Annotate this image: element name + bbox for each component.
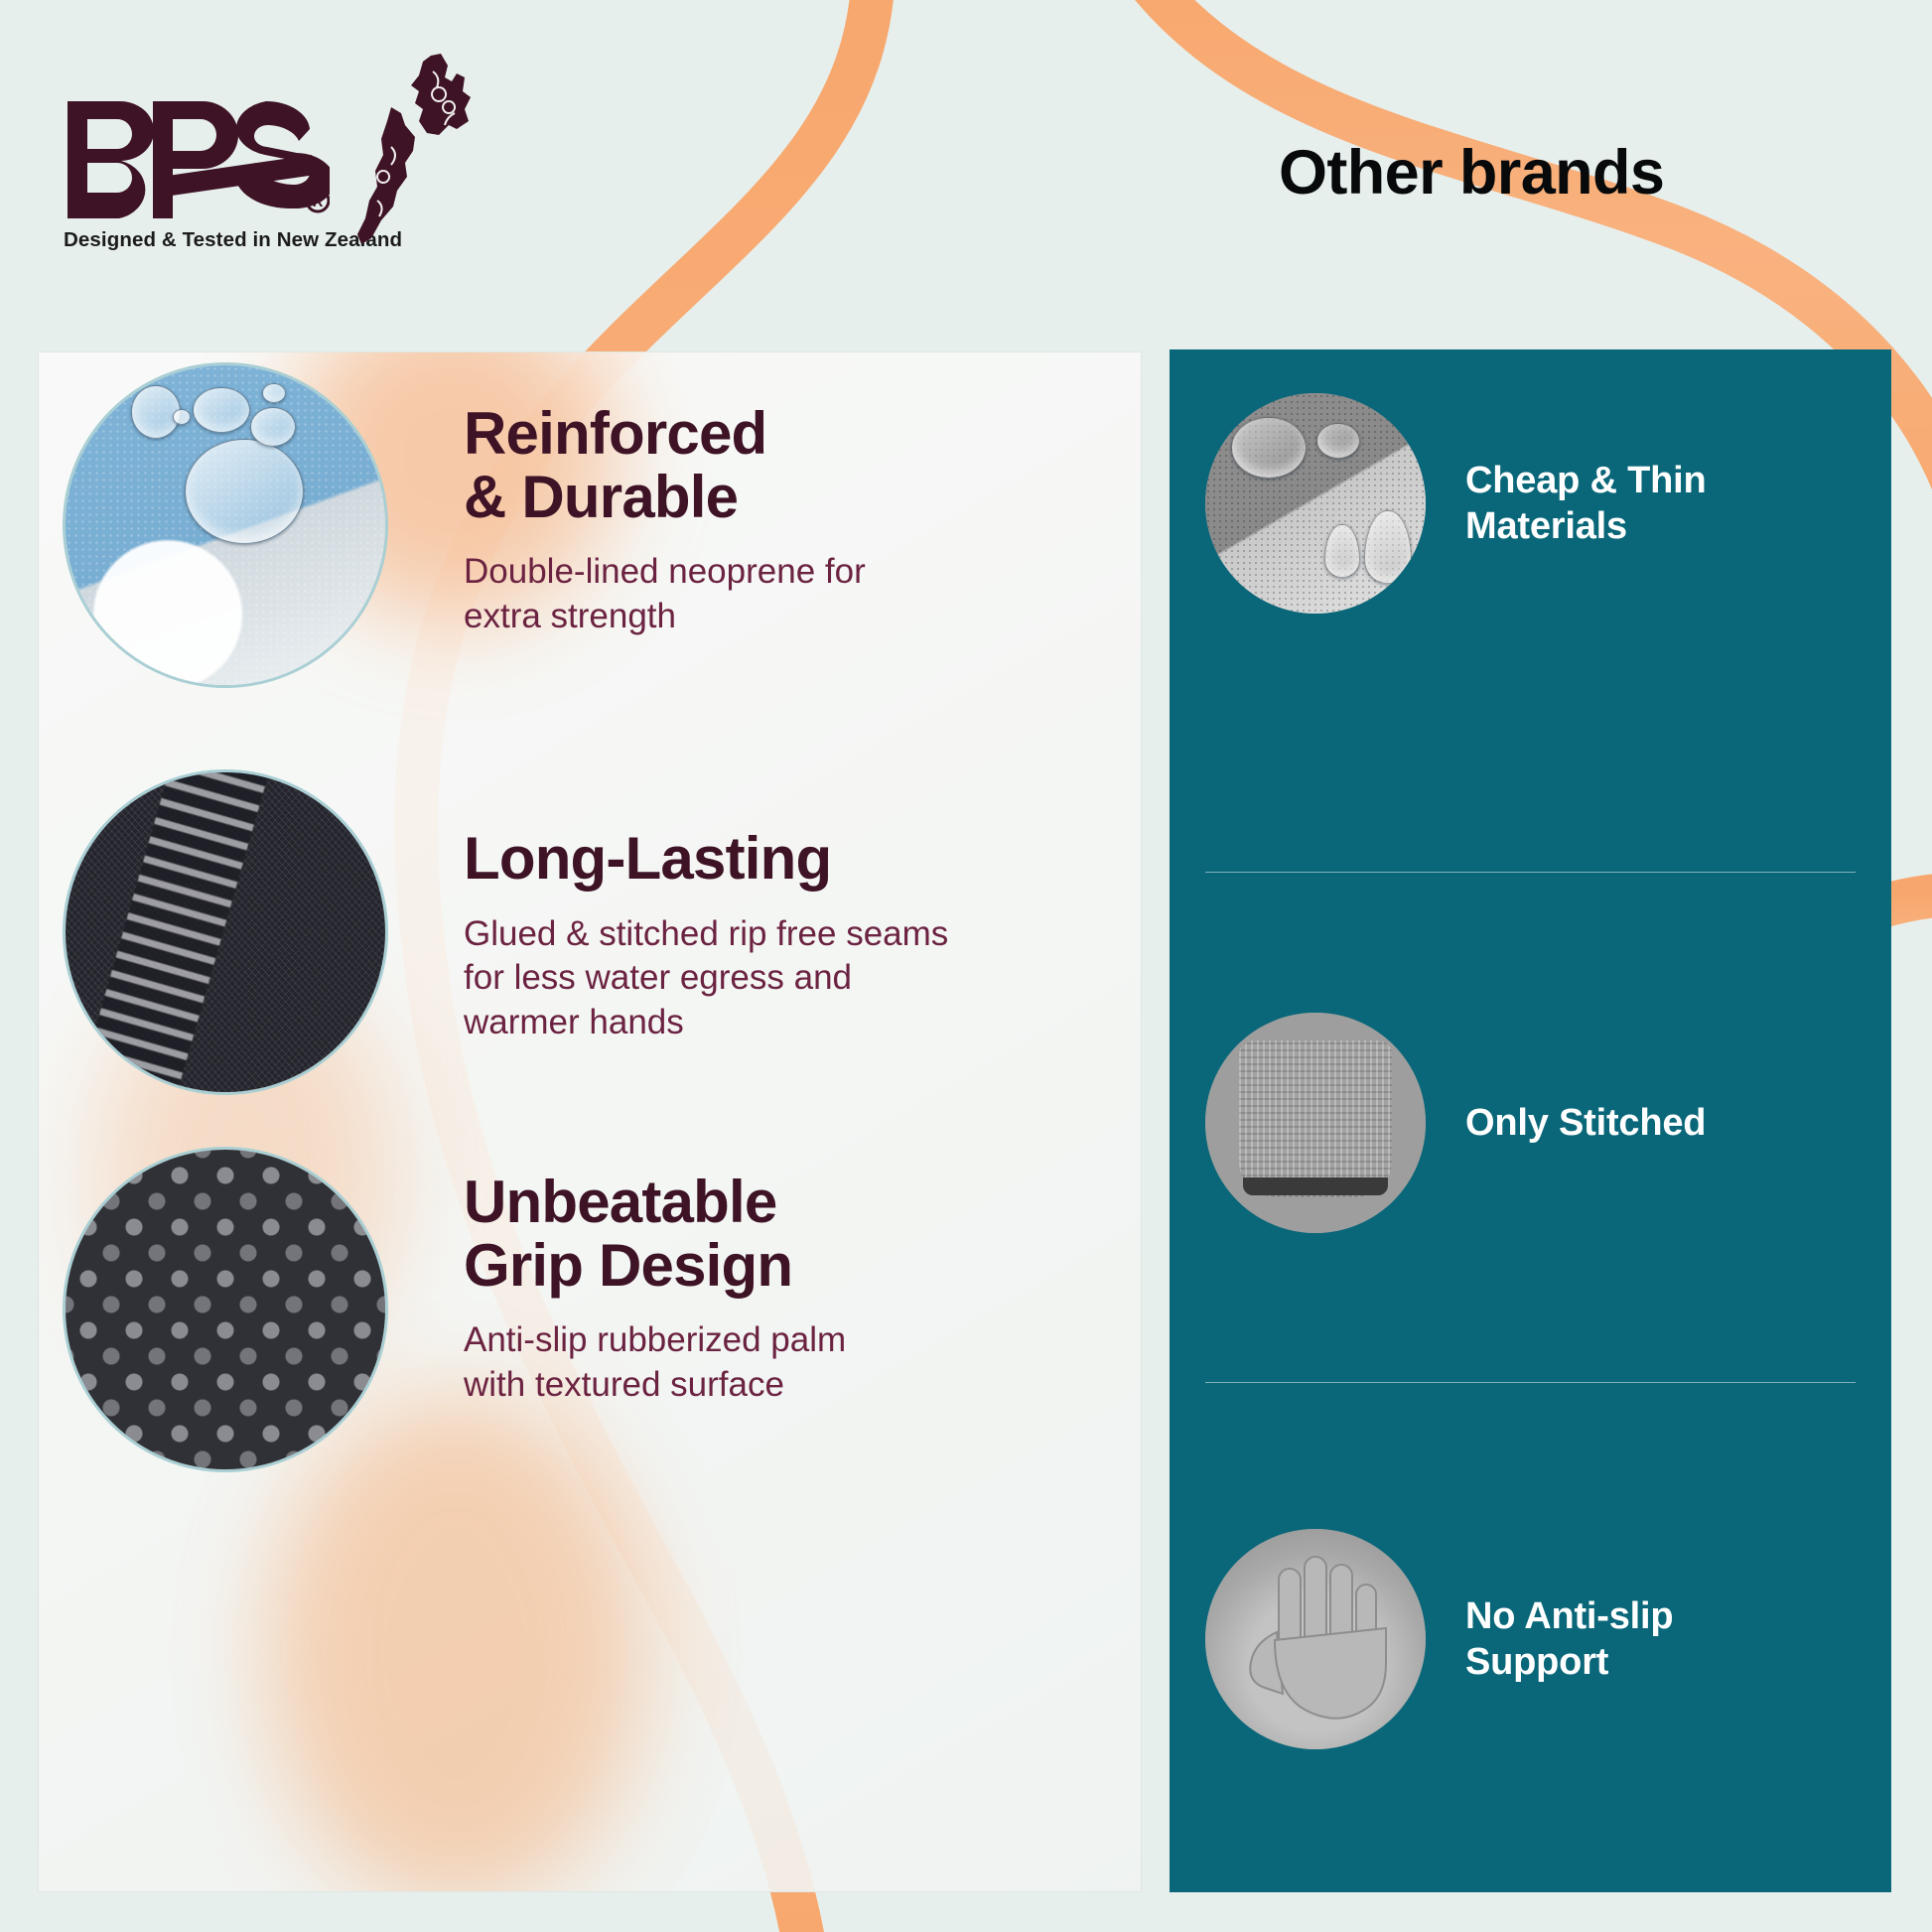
feature-description: Glued & stitched rip free seams for less… bbox=[464, 912, 960, 1045]
feature-reinforced-durable: Reinforced & Durable Double-lined neopre… bbox=[63, 362, 1115, 688]
stitched-only-cuff-photo bbox=[1205, 1013, 1426, 1233]
neoprene-water-beading-photo bbox=[63, 362, 388, 688]
other-brand-row-stitched: Only Stitched bbox=[1205, 1013, 1706, 1233]
brand-logo-lockup: R Designed & Tested in New Zealand bbox=[62, 52, 518, 260]
plain-glove-palm-photo bbox=[1205, 1529, 1426, 1749]
bps-feature-card: Reinforced & Durable Double-lined neopre… bbox=[38, 351, 1142, 1892]
comparison-infographic: R Designed & Tested in New Zealand bbox=[0, 0, 1932, 1932]
feature-description: Anti-slip rubberized palm with textured … bbox=[464, 1318, 881, 1408]
other-brand-row-materials: Cheap & Thin Materials bbox=[1205, 393, 1783, 614]
feature-title: Reinforced & Durable bbox=[464, 402, 1020, 528]
other-brands-panel: Cheap & Thin Materials Only Stitched bbox=[1170, 349, 1891, 1892]
thin-material-water-runoff-photo bbox=[1205, 393, 1426, 614]
glued-stitched-seam-photo bbox=[63, 769, 388, 1095]
other-brand-row-antislip: No Anti-slip Support bbox=[1205, 1529, 1783, 1749]
other-brand-label: Cheap & Thin Materials bbox=[1465, 458, 1783, 550]
other-brand-label: Only Stitched bbox=[1465, 1100, 1706, 1146]
other-brand-label: No Anti-slip Support bbox=[1465, 1593, 1783, 1686]
panel-divider bbox=[1205, 872, 1856, 873]
feature-description: Double-lined neoprene for extra strength bbox=[464, 550, 930, 639]
feature-title: Long-Lasting bbox=[464, 827, 1020, 891]
new-zealand-map-icon bbox=[353, 52, 481, 250]
honeycomb-grip-texture-photo bbox=[63, 1147, 388, 1472]
feature-unbeatable-grip: Unbeatable Grip Design Anti-slip rubberi… bbox=[63, 1147, 1115, 1472]
svg-text:R: R bbox=[313, 194, 324, 210]
brand-tagline: Designed & Tested in New Zealand bbox=[64, 228, 402, 252]
bps-wordmark-icon: R bbox=[62, 91, 330, 220]
feature-long-lasting: Long-Lasting Glued & stitched rip free s… bbox=[63, 769, 1115, 1095]
other-brands-title: Other brands bbox=[1279, 137, 1664, 208]
feature-title: Unbeatable Grip Design bbox=[464, 1171, 1020, 1297]
panel-divider bbox=[1205, 1382, 1856, 1383]
